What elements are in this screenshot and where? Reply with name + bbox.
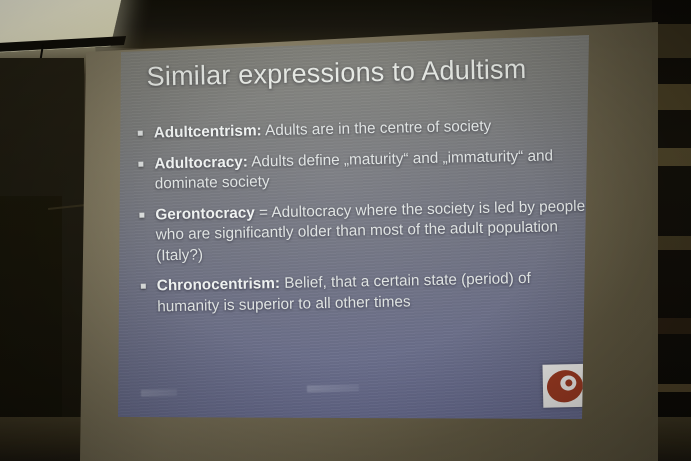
- right-shape-c: [656, 148, 691, 166]
- bullet-square-icon: [138, 161, 143, 166]
- eye-logo-icon: [544, 367, 586, 405]
- bullet-item-gerontocracy: Gerontocracy = Adultocracy where the soc…: [135, 196, 588, 267]
- bullet-text: Adults are in the centre of society: [261, 118, 491, 140]
- slide-bullet-list: Adultcentrism: Adults are in the centre …: [134, 115, 590, 328]
- right-shape-a: [655, 24, 691, 58]
- eye-logo-pupil: [565, 378, 573, 386]
- slide-title: Similar expressions to Adultism: [146, 54, 526, 93]
- footer-left-text: [141, 389, 177, 397]
- right-shape-e: [656, 318, 691, 334]
- bullet-term: Adultcentrism:: [154, 122, 262, 141]
- bullet-item-chronocentrism: Chronocentrism: Belief, that a certain s…: [137, 268, 590, 318]
- right-shape-f: [656, 384, 691, 392]
- slide-footer: [139, 372, 592, 421]
- right-shape-b: [655, 84, 691, 110]
- bullet-item-adultcentrism: Adultcentrism: Adults are in the centre …: [134, 115, 586, 145]
- bullet-item-adultocracy: Adultocracy: Adults define „maturity“ an…: [134, 145, 587, 195]
- bullet-term: Gerontocracy: [155, 204, 255, 223]
- bullet-term: Chronocentrism:: [157, 275, 281, 294]
- bullet-square-icon: [139, 212, 144, 217]
- bullet-square-icon: [141, 284, 146, 289]
- projected-slide-photo: Similar expressions to Adultism Adultcen…: [0, 0, 691, 461]
- slide-content: Similar expressions to Adultism Adultcen…: [126, 37, 593, 418]
- footer-middle-text: [307, 384, 359, 392]
- right-shape-d: [656, 236, 691, 250]
- bullet-square-icon: [138, 131, 143, 136]
- slide-logo: [542, 364, 587, 408]
- bullet-term: Adultocracy:: [154, 153, 248, 172]
